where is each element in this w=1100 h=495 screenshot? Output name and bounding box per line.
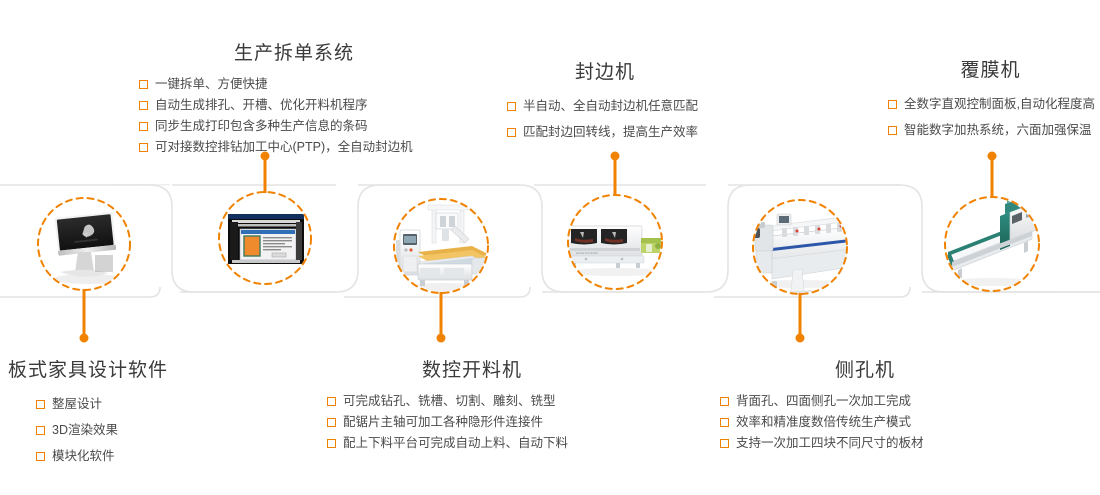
checkbox-bullet-icon (888, 126, 897, 135)
feature-text: 同步生成打印包含多种生产信息的条码 (155, 116, 368, 137)
feature-list-design: 整屋设计 3D渲染效果 模块化软件 (8, 391, 168, 469)
list-item: 配锯片主轴可加工各种隐形件连接件 (327, 412, 617, 433)
block-title-edge: 封边机 (507, 57, 703, 84)
block-title-side: 侧孔机 (720, 355, 1010, 382)
list-item: 效率和精准度数倍传统生产模式 (720, 412, 1010, 433)
connector-dot-side (796, 334, 805, 343)
checkbox-bullet-icon (327, 397, 336, 406)
checkbox-bullet-icon (36, 426, 45, 435)
list-item: 背面孔、四面侧孔一次加工完成 (720, 391, 1010, 412)
feature-text: 一键拆单、方便快捷 (155, 74, 268, 95)
list-item: 匹配封边回转线，提高生产效率 (507, 119, 703, 145)
list-item: 自动生成排孔、开槽、优化开料机程序 (139, 95, 449, 116)
feature-list-split: 一键拆单、方便快捷 自动生成排孔、开槽、优化开料机程序 同步生成打印包含多种生产… (139, 74, 449, 158)
block-title-lam: 覆膜机 (888, 55, 1093, 82)
feature-list-lam: 全数字直观控制面板,自动化程度高 智能数字加热系统，六面加强保温 (888, 91, 1095, 143)
checkbox-bullet-icon (888, 100, 897, 109)
connector-dot-lam (988, 152, 997, 161)
feature-text: 可完成钻孔、铣槽、切割、雕刻、铣型 (343, 391, 556, 412)
checkbox-bullet-icon (327, 418, 336, 427)
process-flow-infographic: EDGE BANDER (0, 0, 1100, 495)
list-item: 可对接数控排钻加工中心(PTP)，全自动封边机 (139, 137, 449, 158)
checkbox-bullet-icon (36, 400, 45, 409)
block-panel-furniture-design-software: 板式家具设计软件 整屋设计 3D渲染效果 模块化软件 (8, 355, 168, 469)
feature-text: 模块化软件 (52, 443, 115, 469)
checkbox-bullet-icon (507, 128, 516, 137)
feature-text: 3D渲染效果 (52, 417, 118, 443)
checkbox-bullet-icon (507, 102, 516, 111)
checkbox-bullet-icon (36, 452, 45, 461)
list-item: 3D渲染效果 (36, 417, 168, 443)
feature-list-side: 背面孔、四面侧孔一次加工完成 效率和精准度数倍传统生产模式 支持一次加工四块不同… (720, 391, 1010, 454)
feature-list-cnc: 可完成钻孔、铣槽、切割、雕刻、铣型 配锯片主轴可加工各种隐形件连接件 配上下料平… (327, 391, 617, 454)
connector-dot-cnc (437, 334, 446, 343)
svg-text:EDGE BANDER: EDGE BANDER (576, 251, 599, 255)
list-item: 配上下料平台可完成自动上料、自动下料 (327, 433, 617, 454)
list-item: 支持一次加工四块不同尺寸的板材 (720, 433, 1010, 454)
connector-dot-edge (611, 152, 620, 161)
feature-text: 效率和精准度数倍传统生产模式 (736, 412, 911, 433)
checkbox-bullet-icon (720, 397, 729, 406)
ribbon-path (0, 185, 1100, 297)
block-title-design: 板式家具设计软件 (8, 355, 168, 382)
feature-text: 背面孔、四面侧孔一次加工完成 (736, 391, 911, 412)
block-laminating-machine: 覆膜机 全数字直观控制面板,自动化程度高 智能数字加热系统，六面加强保温 (888, 55, 1095, 143)
ribbon-shading (0, 184, 1100, 292)
feature-text: 配上下料平台可完成自动上料、自动下料 (343, 433, 568, 454)
block-production-split-system: 生产拆单系统 一键拆单、方便快捷 自动生成排孔、开槽、优化开料机程序 同步生成打… (139, 38, 449, 158)
block-edge-banding-machine: 封边机 半自动、全自动封边机任意匹配 匹配封边回转线，提高生产效率 (507, 57, 703, 145)
list-item: 一键拆单、方便快捷 (139, 74, 449, 95)
block-title-split: 生产拆单系统 (139, 38, 449, 65)
connector-dot-design (80, 334, 89, 343)
list-item: 同步生成打印包含多种生产信息的条码 (139, 116, 449, 137)
connector-dots (80, 152, 997, 343)
checkbox-bullet-icon (139, 122, 148, 131)
feature-list-edge: 半自动、全自动封边机任意匹配 匹配封边回转线，提高生产效率 (507, 93, 703, 145)
list-item: 半自动、全自动封边机任意匹配 (507, 93, 703, 119)
checkbox-bullet-icon (327, 439, 336, 448)
feature-text: 可对接数控排钻加工中心(PTP)，全自动封边机 (155, 137, 413, 158)
feature-text: 整屋设计 (52, 391, 102, 417)
checkbox-bullet-icon (139, 143, 148, 152)
block-cnc-cutting-machine: 数控开料机 可完成钻孔、铣槽、切割、雕刻、铣型 配锯片主轴可加工各种隐形件连接件… (327, 355, 617, 454)
feature-text: 配锯片主轴可加工各种隐形件连接件 (343, 412, 543, 433)
feature-text: 匹配封边回转线，提高生产效率 (523, 119, 698, 145)
cad-software-screen-icon (228, 214, 304, 264)
list-item: 整屋设计 (36, 391, 168, 417)
checkbox-bullet-icon (139, 101, 148, 110)
block-title-cnc: 数控开料机 (327, 355, 617, 382)
list-item: 智能数字加热系统，六面加强保温 (888, 117, 1095, 143)
feature-text: 自动生成排孔、开槽、优化开料机程序 (155, 95, 368, 116)
node-backings (39, 193, 1038, 293)
feature-text: 全数字直观控制面板,自动化程度高 (904, 91, 1095, 117)
feature-text: 支持一次加工四块不同尺寸的板材 (736, 433, 924, 454)
feature-text: 智能数字加热系统，六面加强保温 (904, 117, 1092, 143)
list-item: 模块化软件 (36, 443, 168, 469)
checkbox-bullet-icon (139, 80, 148, 89)
checkbox-bullet-icon (720, 439, 729, 448)
list-item: 可完成钻孔、铣槽、切割、雕刻、铣型 (327, 391, 617, 412)
list-item: 全数字直观控制面板,自动化程度高 (888, 91, 1095, 117)
checkbox-bullet-icon (720, 418, 729, 427)
node-rings (38, 192, 1039, 294)
block-side-drilling-machine: 侧孔机 背面孔、四面侧孔一次加工完成 效率和精准度数倍传统生产模式 支持一次加工… (720, 355, 1010, 454)
feature-text: 半自动、全自动封边机任意匹配 (523, 93, 698, 119)
